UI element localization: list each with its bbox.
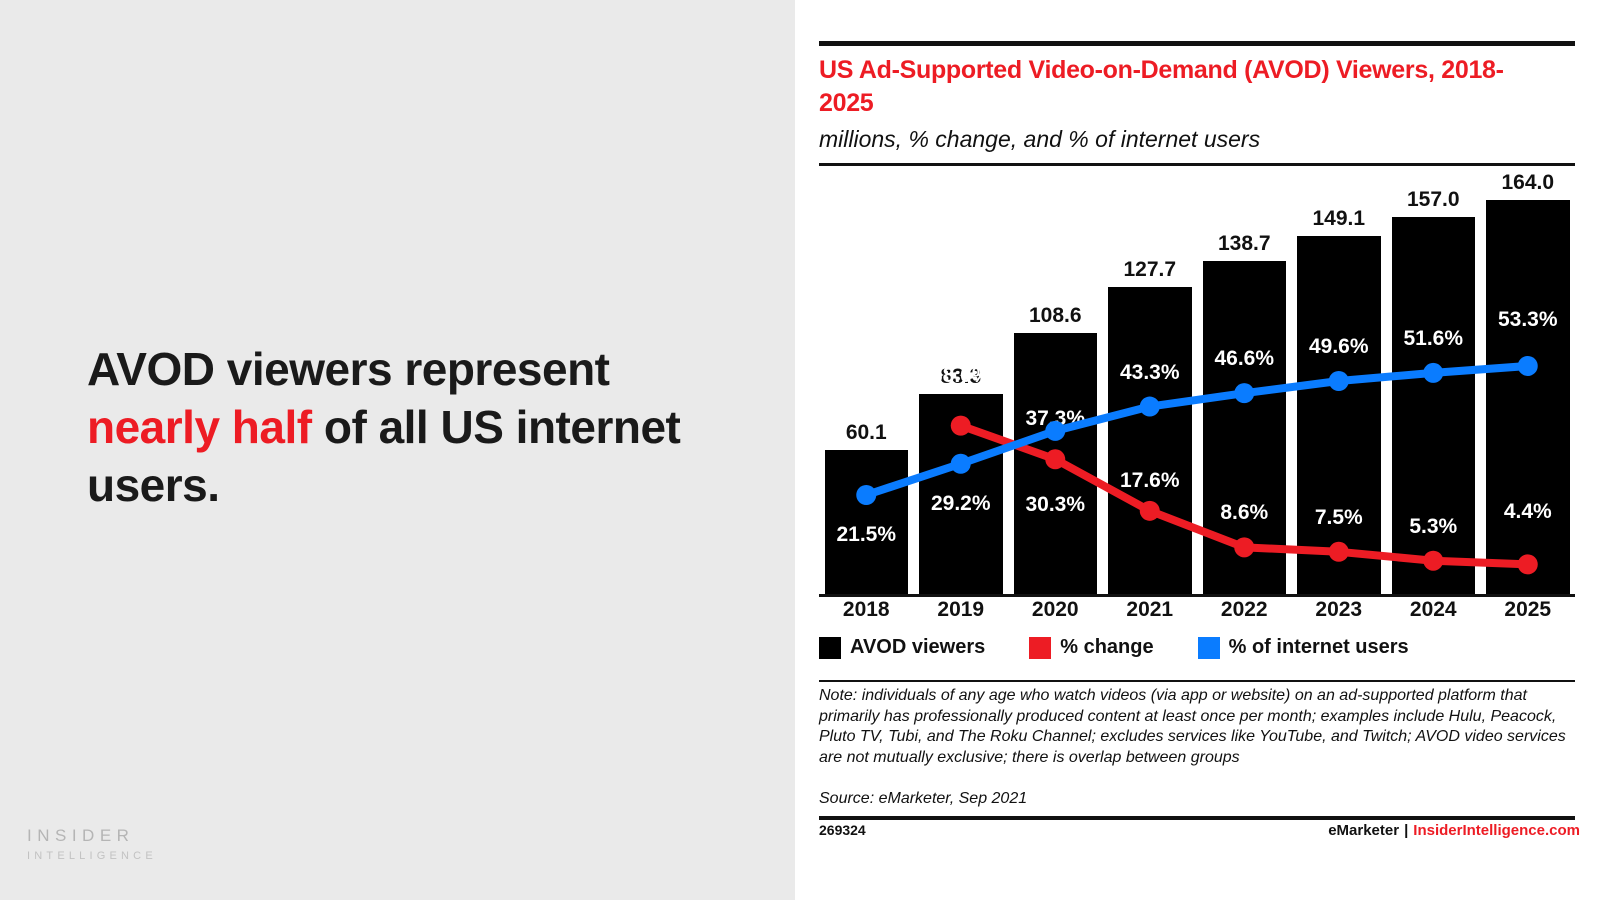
chart-panel: US Ad-Supported Video-on-Demand (AVOD) V…	[795, 0, 1600, 900]
pct-change-label-2024: 5.3%	[1386, 515, 1481, 539]
headline-highlight: nearly half	[87, 401, 312, 453]
footer-brand: eMarketer	[1328, 822, 1399, 839]
bar-2023	[1297, 236, 1381, 594]
pct-internet-users-label-2018: 21.5%	[819, 523, 914, 547]
chart-page: AVOD viewers represent nearly half of al…	[0, 0, 1600, 900]
chart-id: 269324	[819, 822, 866, 838]
chart-title: US Ad-Supported Video-on-Demand (AVOD) V…	[819, 54, 1519, 120]
legend-item-2[interactable]: % of internet users	[1198, 636, 1409, 659]
pct-change-label-2019: 38.6%	[914, 364, 1009, 388]
x-axis-label-2025: 2025	[1481, 598, 1576, 622]
bar-value-label-2022: 138.7	[1197, 232, 1292, 256]
logo-line-intelligence: INTELLIGENCE	[27, 850, 157, 862]
legend-swatch-0	[819, 637, 841, 659]
legend-label-2: % of internet users	[1229, 636, 1409, 659]
note-rule	[819, 680, 1575, 682]
subtitle-rule	[819, 163, 1575, 166]
logo-line-insider: INSIDER	[27, 826, 157, 846]
pct-change-label-2022: 8.6%	[1197, 501, 1292, 525]
pct-internet-users-label-2022: 46.6%	[1197, 347, 1292, 371]
pct-change-label-2020: 30.3%	[1008, 493, 1103, 517]
x-axis-label-2024: 2024	[1386, 598, 1481, 622]
bar-value-label-2020: 108.6	[1008, 304, 1103, 328]
legend-item-1[interactable]: % change	[1029, 636, 1153, 659]
x-axis-label-2023: 2023	[1292, 598, 1387, 622]
x-axis-label-2020: 2020	[1008, 598, 1103, 622]
bar-value-label-2021: 127.7	[1103, 258, 1198, 282]
chart-subtitle: millions, % change, and % of internet us…	[819, 126, 1549, 153]
bar-2018	[825, 450, 909, 594]
chart-source: Source: eMarketer, Sep 2021	[819, 789, 1571, 810]
x-axis-label-2022: 2022	[1197, 598, 1292, 622]
bar-2025	[1486, 200, 1570, 594]
top-rule	[819, 41, 1575, 46]
bar-value-label-2025: 164.0	[1481, 171, 1576, 195]
x-axis-label-2018: 2018	[819, 598, 914, 622]
bar-2022	[1203, 261, 1287, 594]
legend-swatch-1	[1029, 637, 1051, 659]
pct-internet-users-label-2021: 43.3%	[1103, 361, 1198, 385]
x-axis-line	[819, 594, 1575, 597]
legend-label-1: % change	[1060, 636, 1153, 659]
chart-legend: AVOD viewers% change% of internet users	[819, 636, 1453, 659]
x-axis-label-2021: 2021	[1103, 598, 1198, 622]
bar-2021	[1108, 287, 1192, 594]
headline-text-before: AVOD viewers represent	[87, 343, 610, 395]
pct-internet-users-label-2025: 53.3%	[1481, 308, 1576, 332]
plot-area: 60.183.3108.6127.7138.7149.1157.0164.038…	[819, 168, 1575, 598]
chart-note: Note: individuals of any age who watch v…	[819, 686, 1571, 768]
x-axis-label-2019: 2019	[914, 598, 1009, 622]
pct-internet-users-label-2023: 49.6%	[1292, 335, 1387, 359]
pct-internet-users-label-2024: 51.6%	[1386, 327, 1481, 351]
legend-swatch-2	[1198, 637, 1220, 659]
insider-intelligence-logo: INSIDER INTELLIGENCE	[27, 826, 157, 862]
pct-internet-users-label-2019: 29.2%	[914, 492, 1009, 516]
footer-rule	[819, 816, 1575, 820]
callout-headline: AVOD viewers represent nearly half of al…	[87, 340, 747, 514]
bar-value-label-2018: 60.1	[819, 421, 914, 445]
left-callout-panel: AVOD viewers represent nearly half of al…	[0, 0, 795, 900]
legend-label-0: AVOD viewers	[850, 636, 985, 659]
bar-2020	[1014, 333, 1098, 594]
footer-attribution: eMarketer|InsiderIntelligence.com	[1328, 822, 1580, 839]
bar-value-label-2024: 157.0	[1386, 188, 1481, 212]
footer-separator: |	[1404, 822, 1408, 839]
legend-item-0[interactable]: AVOD viewers	[819, 636, 985, 659]
pct-change-label-2021: 17.6%	[1103, 469, 1198, 493]
pct-internet-users-label-2020: 37.3%	[1008, 407, 1103, 431]
pct-change-label-2023: 7.5%	[1292, 506, 1387, 530]
footer-site-link[interactable]: InsiderIntelligence.com	[1413, 822, 1580, 839]
bar-value-label-2023: 149.1	[1292, 207, 1387, 231]
pct-change-label-2025: 4.4%	[1481, 500, 1576, 524]
